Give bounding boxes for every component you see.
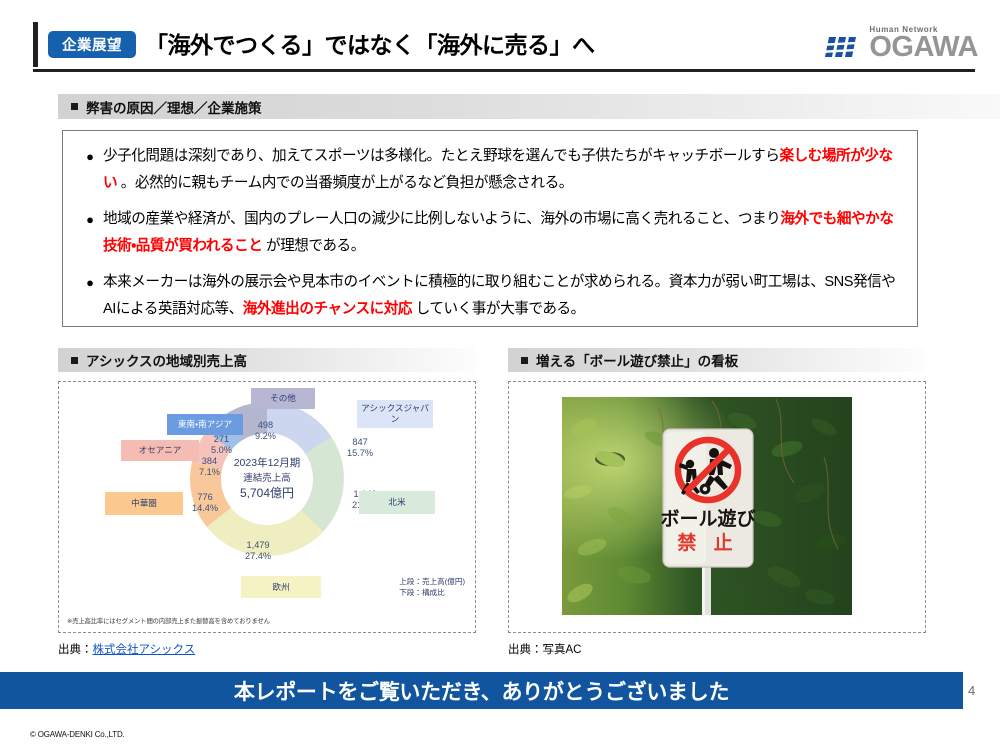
- bullet-text: 少子化問題は深刻であり、加えてスポーツは多様化。たとえ野球を選んでも子供たちがキ…: [103, 143, 901, 197]
- chart-footnote: ※売上高比率にはセグメント間の内部売上また振替高を含めておりません: [67, 616, 270, 625]
- page-header: 企業展望 「海外でつくる」ではなく「海外に売る」へ Human Network …: [0, 0, 1000, 78]
- slice-percent: 15.7%: [347, 448, 373, 458]
- plain-phrase: が理想である。: [262, 238, 364, 254]
- slice-value: 271: [214, 434, 229, 444]
- bullet-list: ●少子化問題は深刻であり、加えてスポーツは多様化。たとえ野球を選んでも子供たちが…: [63, 131, 917, 323]
- section-heading-label: アシックスの地域別売上高: [86, 350, 247, 370]
- slice-percent: 5.0%: [211, 445, 232, 455]
- bullet-marker-icon: ●: [77, 269, 103, 296]
- slice-label-asics-japan: 847 15.7%: [347, 437, 373, 459]
- highlighted-phrase: 海外進出のチャンスに対応: [243, 301, 412, 317]
- no-ball-games-sign-photo: ボール遊び 禁 止: [562, 397, 852, 615]
- bullet-marker-icon: ●: [77, 206, 103, 233]
- category-box-southeast-south-asia: 東南・南アジア: [167, 414, 243, 435]
- slice-percent: 27.4%: [245, 551, 271, 561]
- header-badge: 企業展望: [48, 31, 136, 58]
- bullet-text: 本来メーカーは海外の展示会や見本市のイベントに積極的に取り組むことが求められる。…: [103, 269, 901, 323]
- unit-note-top: 上段：売上高(億円): [399, 576, 465, 587]
- slice-value: 384: [202, 456, 217, 466]
- sign-text-line2: 禁 止: [677, 531, 738, 554]
- chart-panel: 2023年12月期 連結売上高 5,704億円 847 15.7% 1,146 …: [58, 381, 476, 633]
- source-chart: 出典：株式会社アシックス: [58, 641, 195, 657]
- chart-unit-legend: 上段：売上高(億円) 下段：構成比: [399, 576, 465, 598]
- donut-chart: 2023年12月期 連結売上高 5,704億円 847 15.7% 1,146 …: [59, 382, 477, 634]
- section-heading-causes: 弊害の原因／理想／企業施策: [58, 94, 1000, 119]
- source-prefix: 出典：: [58, 644, 93, 656]
- slice-label-greater-china: 776 14.4%: [192, 492, 218, 514]
- page-title: 「海外でつくる」ではなく「海外に売る」へ: [145, 26, 595, 60]
- slice-percent: 14.4%: [192, 503, 218, 513]
- bullet-text: 地域の産業や経済が、国内のプレー人口の減少に比例しないように、海外の市場に高く売…: [103, 206, 901, 260]
- bullet-square-icon: [71, 357, 78, 364]
- sign-text-line1: ボール遊び: [660, 507, 755, 530]
- slice-value: 847: [352, 437, 367, 447]
- plain-phrase: 地域の産業や経済が、国内のプレー人口の減少に比例しないように、海外の市場に高く売…: [103, 211, 780, 227]
- page-number: 4: [968, 683, 975, 698]
- bullet-content-box: ●少子化問題は深刻であり、加えてスポーツは多様化。たとえ野球を選んでも子供たちが…: [62, 130, 918, 327]
- plain-phrase: 少子化問題は深刻であり、加えてスポーツは多様化。たとえ野球を選んでも子供たちがキ…: [103, 148, 779, 164]
- bullet-square-icon: [521, 357, 528, 364]
- source-photo: 出典：写真AC: [508, 641, 581, 657]
- donut-center-period: 2023年12月期: [234, 456, 301, 470]
- category-box-north-america: 北米: [359, 491, 435, 514]
- bullet-item: ●本来メーカーは海外の展示会や見本市のイベントに積極的に取り組むことが求められる…: [77, 269, 901, 323]
- slice-label-oceania: 384 7.1%: [199, 456, 220, 478]
- footer-message: 本レポートをご覧いただき、ありがとうございました: [234, 676, 729, 706]
- photo-panel: ボール遊び 禁 止: [508, 381, 926, 633]
- category-box-others: その他: [251, 388, 315, 409]
- unit-note-bottom: 下段：構成比: [399, 587, 465, 598]
- header-accent-rule: [33, 22, 38, 67]
- logo-wordmark: OGAWA: [869, 35, 978, 60]
- section-heading-chart: アシックスの地域別売上高: [58, 348, 476, 372]
- category-box-greater-china: 中華圏: [105, 492, 183, 515]
- ogawa-logo-text: Human Network OGAWA: [869, 26, 978, 60]
- footer-banner: 本レポートをご覧いただき、ありがとうございました: [0, 672, 963, 709]
- category-box-oceania: オセアニア: [121, 440, 199, 461]
- section-heading-label: 増える「ボール遊び禁止」の看板: [536, 350, 738, 370]
- slice-percent: 7.1%: [199, 467, 220, 477]
- ogawa-logo-mark-icon: [823, 34, 863, 60]
- source-link-asics[interactable]: 株式会社アシックス: [93, 644, 196, 656]
- slice-label-europe: 1,479 27.4%: [245, 540, 271, 562]
- slice-label-southeast-south-asia: 271 5.0%: [211, 434, 232, 456]
- category-box-asics-japan: アシックスジャパン: [357, 400, 433, 428]
- section-heading-label: 弊害の原因／理想／企業施策: [86, 97, 262, 117]
- ogawa-logo: Human Network OGAWA: [823, 26, 978, 60]
- plain-phrase: していく事が大事である。: [412, 301, 585, 317]
- slice-label-others: 498 9.2%: [255, 420, 276, 442]
- bullet-square-icon: [71, 103, 78, 110]
- slice-percent: 9.2%: [255, 431, 276, 441]
- slice-value: 1,479: [247, 540, 270, 550]
- plain-phrase: 。必然的に親もチーム内での当番頻度が上がるなど負担が懸念される。: [117, 175, 573, 191]
- category-box-europe: 欧州: [241, 576, 321, 598]
- section-heading-photo: 増える「ボール遊び禁止」の看板: [508, 348, 926, 372]
- donut-center-caption: 連結売上高: [243, 473, 291, 486]
- donut-center-value: 5,704億円: [240, 486, 294, 502]
- slice-value: 776: [197, 492, 212, 502]
- bullet-item: ●地域の産業や経済が、国内のプレー人口の減少に比例しないように、海外の市場に高く…: [77, 206, 901, 260]
- copyright-notice: © OGAWA-DENKI Co.,LTD.: [30, 730, 125, 739]
- donut-center-label: 2023年12月期 連結売上高 5,704億円: [221, 433, 313, 525]
- bullet-item: ●少子化問題は深刻であり、加えてスポーツは多様化。たとえ野球を選んでも子供たちが…: [77, 143, 901, 197]
- bullet-marker-icon: ●: [77, 143, 103, 170]
- header-underline: [33, 69, 975, 72]
- slice-value: 498: [258, 420, 273, 430]
